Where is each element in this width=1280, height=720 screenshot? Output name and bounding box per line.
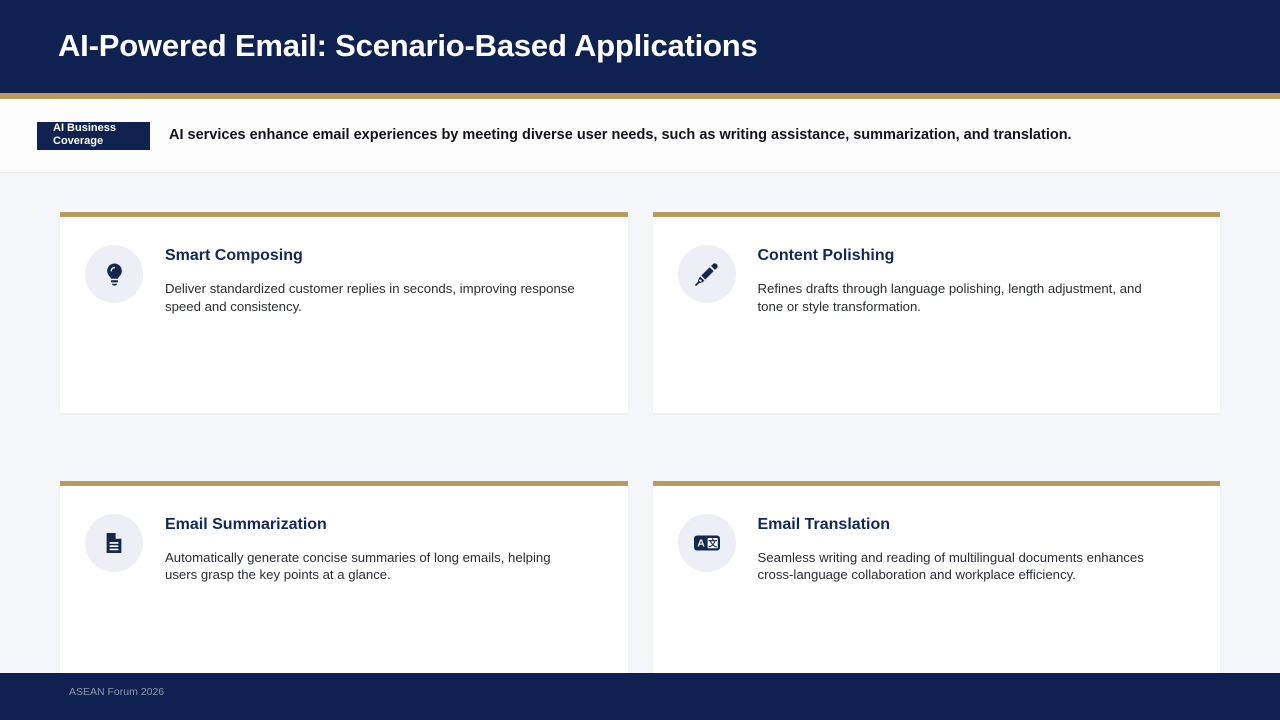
badge-line-2: Coverage [53,135,140,148]
subtitle-text: AI services enhance email experiences by… [169,127,1072,144]
card-description: Automatically generate concise summaries… [165,549,577,584]
page-title: AI-Powered Email: Scenario-Based Applica… [58,29,758,63]
lightbulb-icon [85,245,143,303]
feature-card-email-summarization[interactable]: Email Summarization Automatically genera… [60,481,628,682]
card-description: Deliver standardized customer replies in… [165,280,577,315]
svg-text:文: 文 [707,537,718,549]
slide: AI-Powered Email: Scenario-Based Applica… [0,0,1280,720]
card-title: Smart Composing [165,246,604,265]
card-title: Email Translation [758,515,1197,534]
svg-text:A: A [697,537,705,549]
card-title: Email Summarization [165,515,604,534]
slide-footer: ASEAN Forum 2026 [0,673,1280,720]
card-body: Content Polishing Refines drafts through… [758,243,1197,315]
slide-header: AI-Powered Email: Scenario-Based Applica… [0,0,1280,93]
pen-nib-icon [678,245,736,303]
badge-line-1: AI Business [53,122,140,135]
card-body: Smart Composing Deliver standardized cus… [165,243,604,315]
feature-card-email-translation[interactable]: A 文 Email Translation Seamless writing a… [653,481,1221,682]
footer-left-text: ASEAN Forum 2026 [69,687,164,698]
status-badge: AI Business Coverage [37,122,150,150]
card-body: Email Summarization Automatically genera… [165,512,604,584]
translate-icon: A 文 [678,514,736,572]
subtitle-band: AI Business Coverage AI services enhance… [0,99,1280,173]
card-body: Email Translation Seamless writing and r… [758,512,1197,584]
card-title: Content Polishing [758,246,1197,265]
document-text-icon [85,514,143,572]
card-description: Seamless writing and reading of multilin… [758,549,1170,584]
card-grid: Smart Composing Deliver standardized cus… [0,173,1280,720]
card-description: Refines drafts through language polishin… [758,280,1170,315]
feature-card-smart-composing[interactable]: Smart Composing Deliver standardized cus… [60,212,628,413]
feature-card-content-polishing[interactable]: Content Polishing Refines drafts through… [653,212,1221,413]
